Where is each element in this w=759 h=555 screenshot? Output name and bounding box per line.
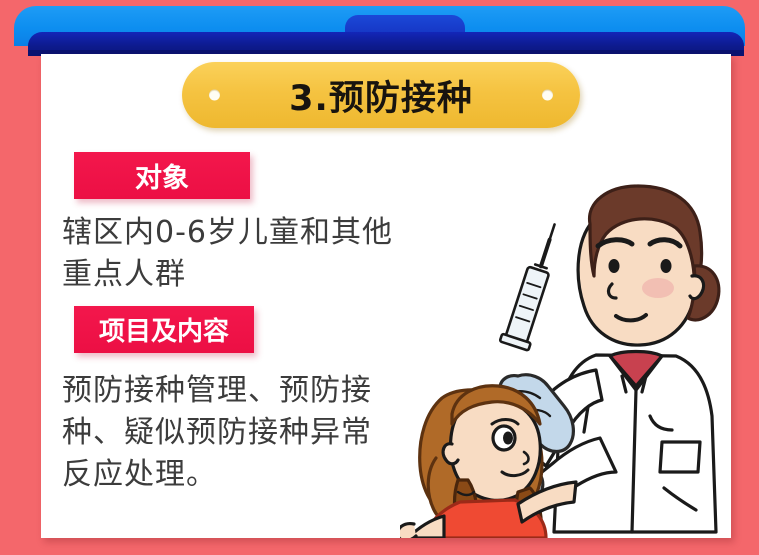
illustration-nurse-vaccinating-girl <box>400 180 731 538</box>
rivet-right-icon <box>542 90 553 101</box>
poster-root: 3.预防接种 对象 辖区内0-6岁儿童和其他 重点人群 项目及内容 预防接种管理… <box>0 0 759 555</box>
section-tag-target: 对象 <box>74 152 250 199</box>
section-tag-target-label: 对象 <box>135 156 189 195</box>
section-tag-items: 项目及内容 <box>74 306 254 353</box>
rivet-left-icon <box>209 90 220 101</box>
title-banner: 3.预防接种 <box>182 62 580 128</box>
illustration-svg <box>400 180 731 538</box>
page-title: 3.预防接种 <box>289 70 473 121</box>
section-body-target: 辖区内0-6岁儿童和其他 重点人群 <box>62 212 452 296</box>
section-tag-items-label: 项目及内容 <box>99 311 229 348</box>
section-body-items: 预防接种管理、预防接 种、疑似预防接种异常 反应处理。 <box>62 370 454 496</box>
